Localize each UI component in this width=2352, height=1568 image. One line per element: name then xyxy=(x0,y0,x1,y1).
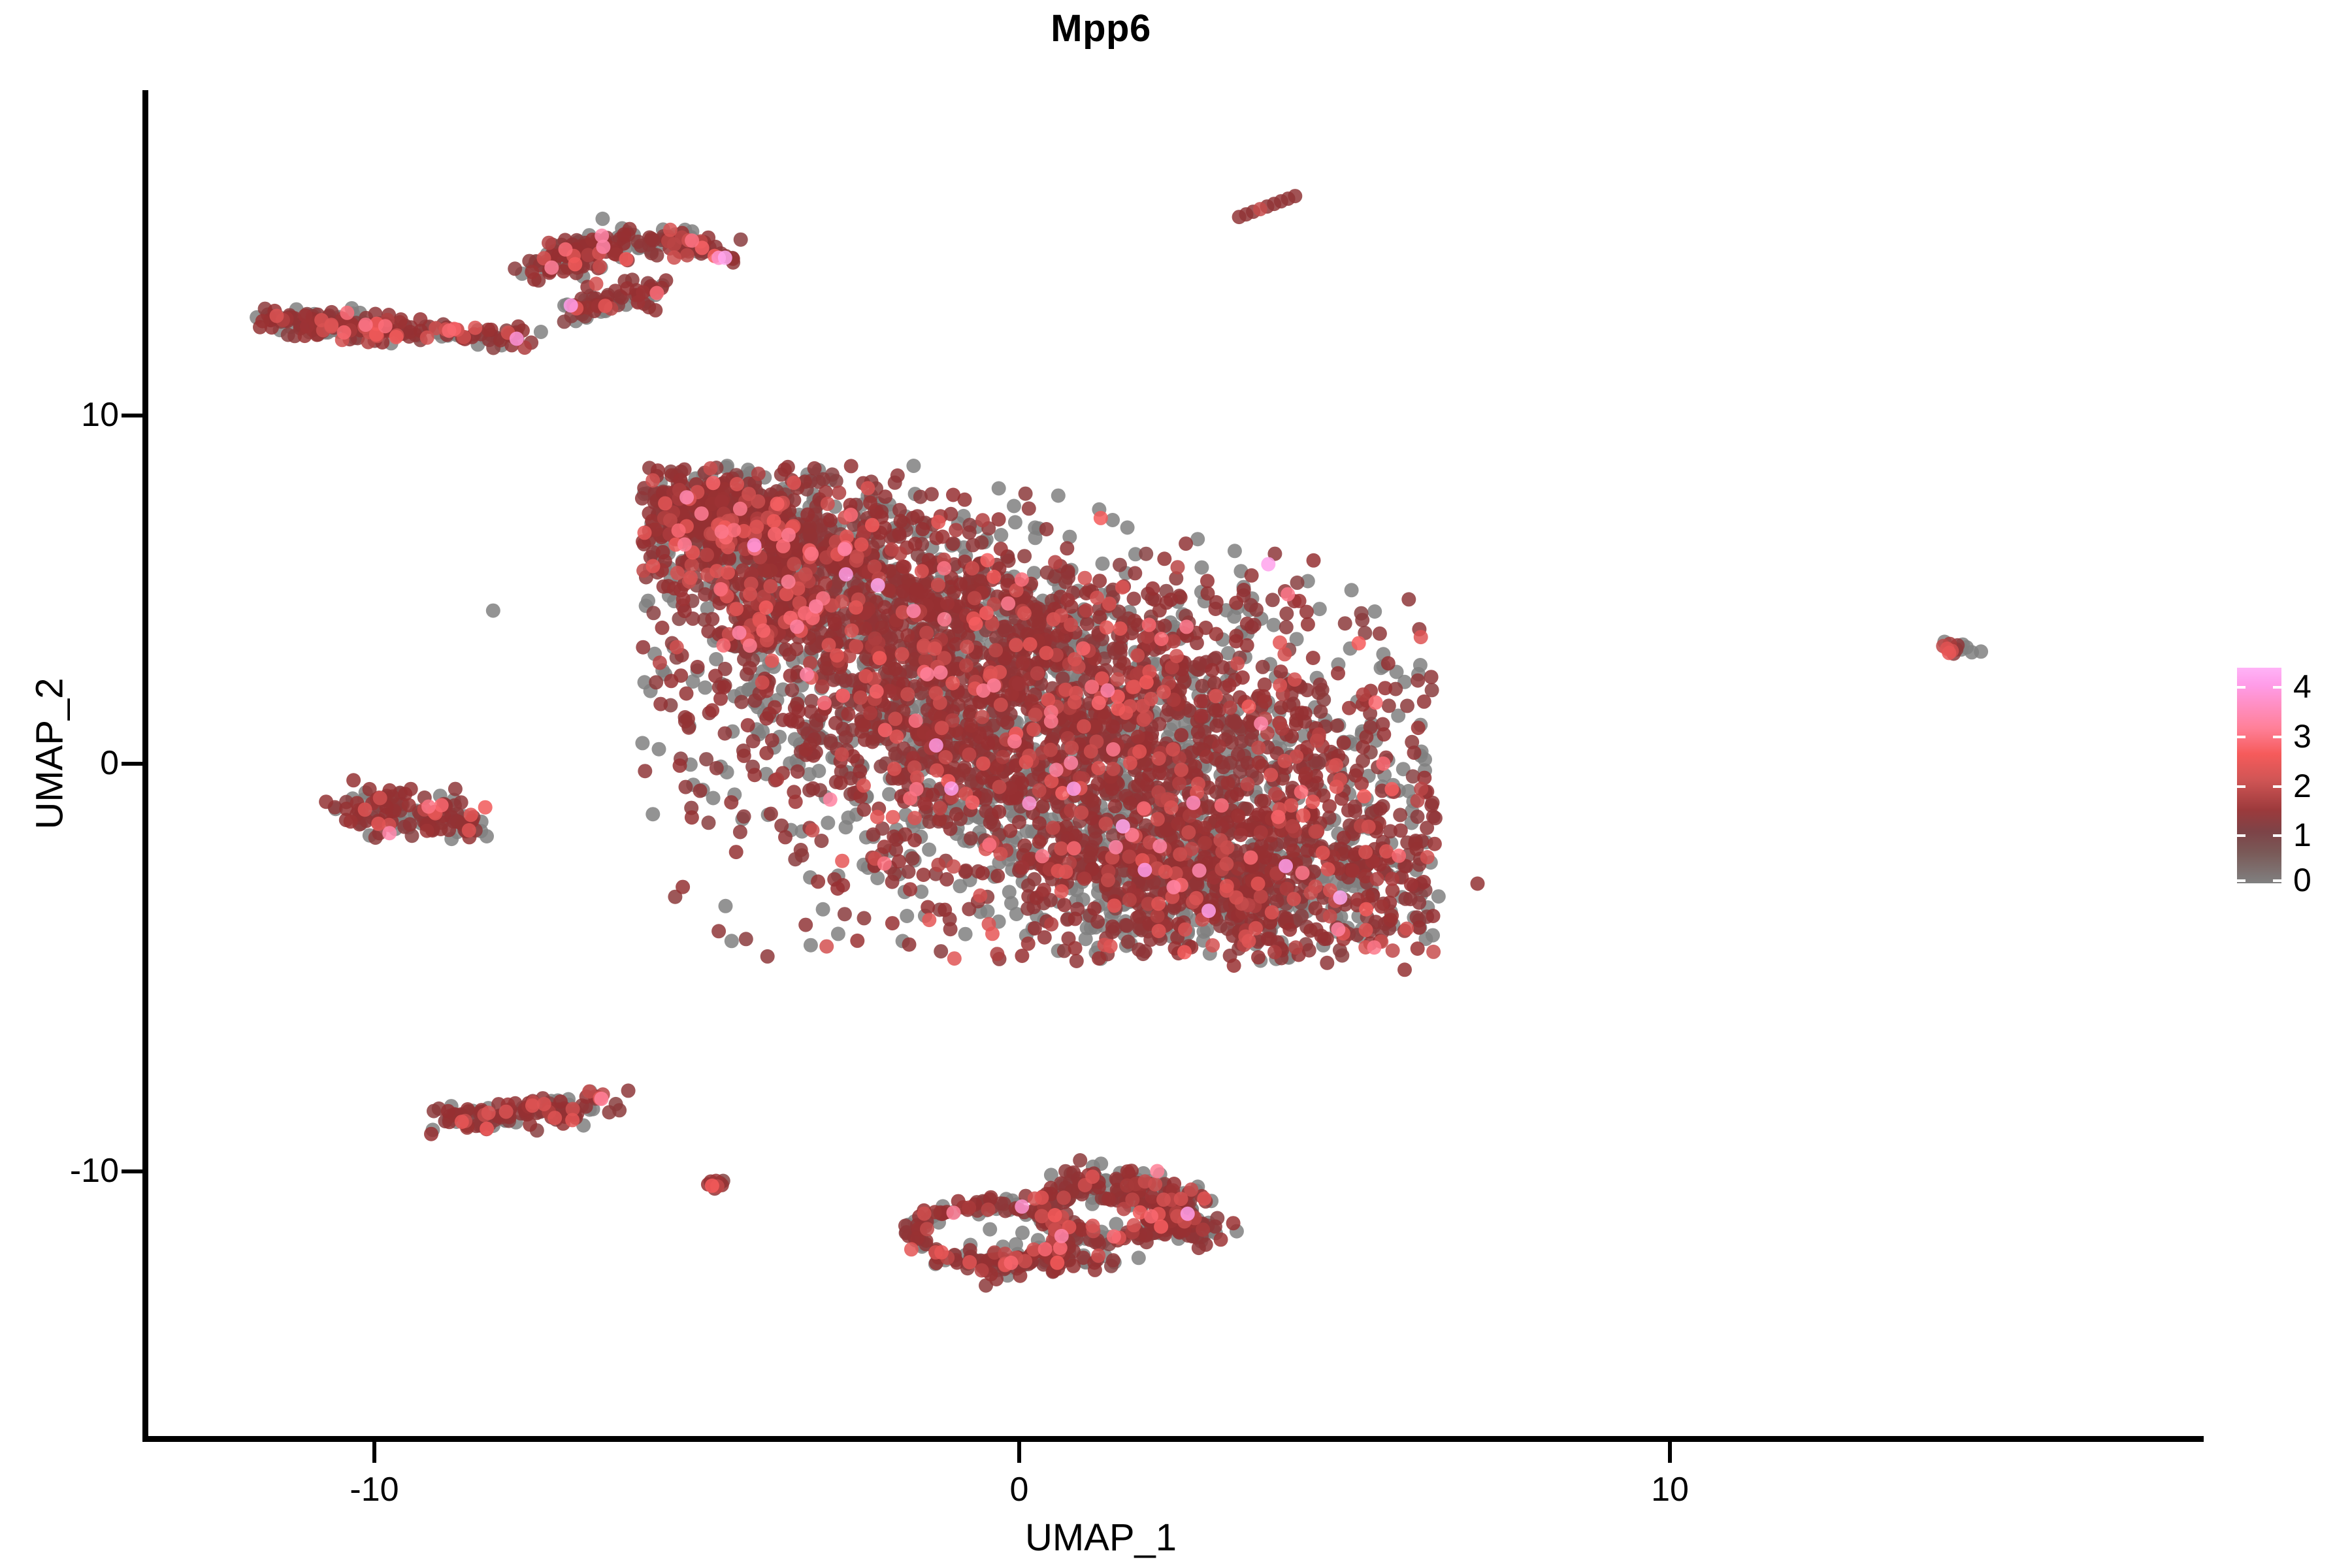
colorbar-tick-2-right xyxy=(2273,785,2281,788)
x-tick-label--10: -10 xyxy=(350,1470,399,1509)
colorbar-gradient xyxy=(2237,668,2281,883)
colorbar-label-0: 0 xyxy=(2293,864,2311,896)
colorbar-label-4: 4 xyxy=(2293,670,2311,703)
colorbar-label-3: 3 xyxy=(2293,720,2311,753)
y-axis-title: UMAP_2 xyxy=(28,525,72,983)
umap-feature-plot: Mpp6 10 0 -10 -10 0 10 UMAP_2 UMAP_1 4 3… xyxy=(0,0,2352,1568)
y-tick-mark-0 xyxy=(122,762,142,766)
y-axis-line xyxy=(142,90,148,1441)
colorbar-label-2: 2 xyxy=(2293,770,2311,802)
y-tick-label-10: 10 xyxy=(81,395,119,434)
x-tick-mark-10 xyxy=(1668,1442,1672,1463)
colorbar-tick-0-right xyxy=(2273,879,2281,882)
colorbar-tick-0-left xyxy=(2237,879,2246,882)
page-title: Mpp6 xyxy=(0,7,2202,50)
scatter-points-layer xyxy=(0,0,2352,1568)
colorbar-tick-2-left xyxy=(2237,785,2246,788)
x-axis-line xyxy=(142,1436,2204,1442)
colorbar-label-1: 1 xyxy=(2293,819,2311,851)
x-tick-mark-0 xyxy=(1017,1442,1021,1463)
colorbar-tick-1-left xyxy=(2237,834,2246,837)
colorbar-tick-3-left xyxy=(2237,736,2246,738)
colorbar-tick-1-right xyxy=(2273,834,2281,837)
x-tick-mark--10 xyxy=(372,1442,376,1463)
colorbar-tick-3-right xyxy=(2273,736,2281,738)
y-tick-label--10: -10 xyxy=(70,1151,119,1190)
y-tick-mark-10 xyxy=(122,414,142,417)
y-tick-label-0: 0 xyxy=(100,743,119,783)
x-tick-label-10: 10 xyxy=(1651,1470,1689,1509)
x-tick-label-0: 0 xyxy=(1010,1470,1029,1509)
colorbar-tick-4-left xyxy=(2237,686,2246,689)
x-axis-title: UMAP_1 xyxy=(0,1516,2202,1560)
y-tick-mark--10 xyxy=(122,1169,142,1173)
colorbar-tick-4-right xyxy=(2273,686,2281,689)
